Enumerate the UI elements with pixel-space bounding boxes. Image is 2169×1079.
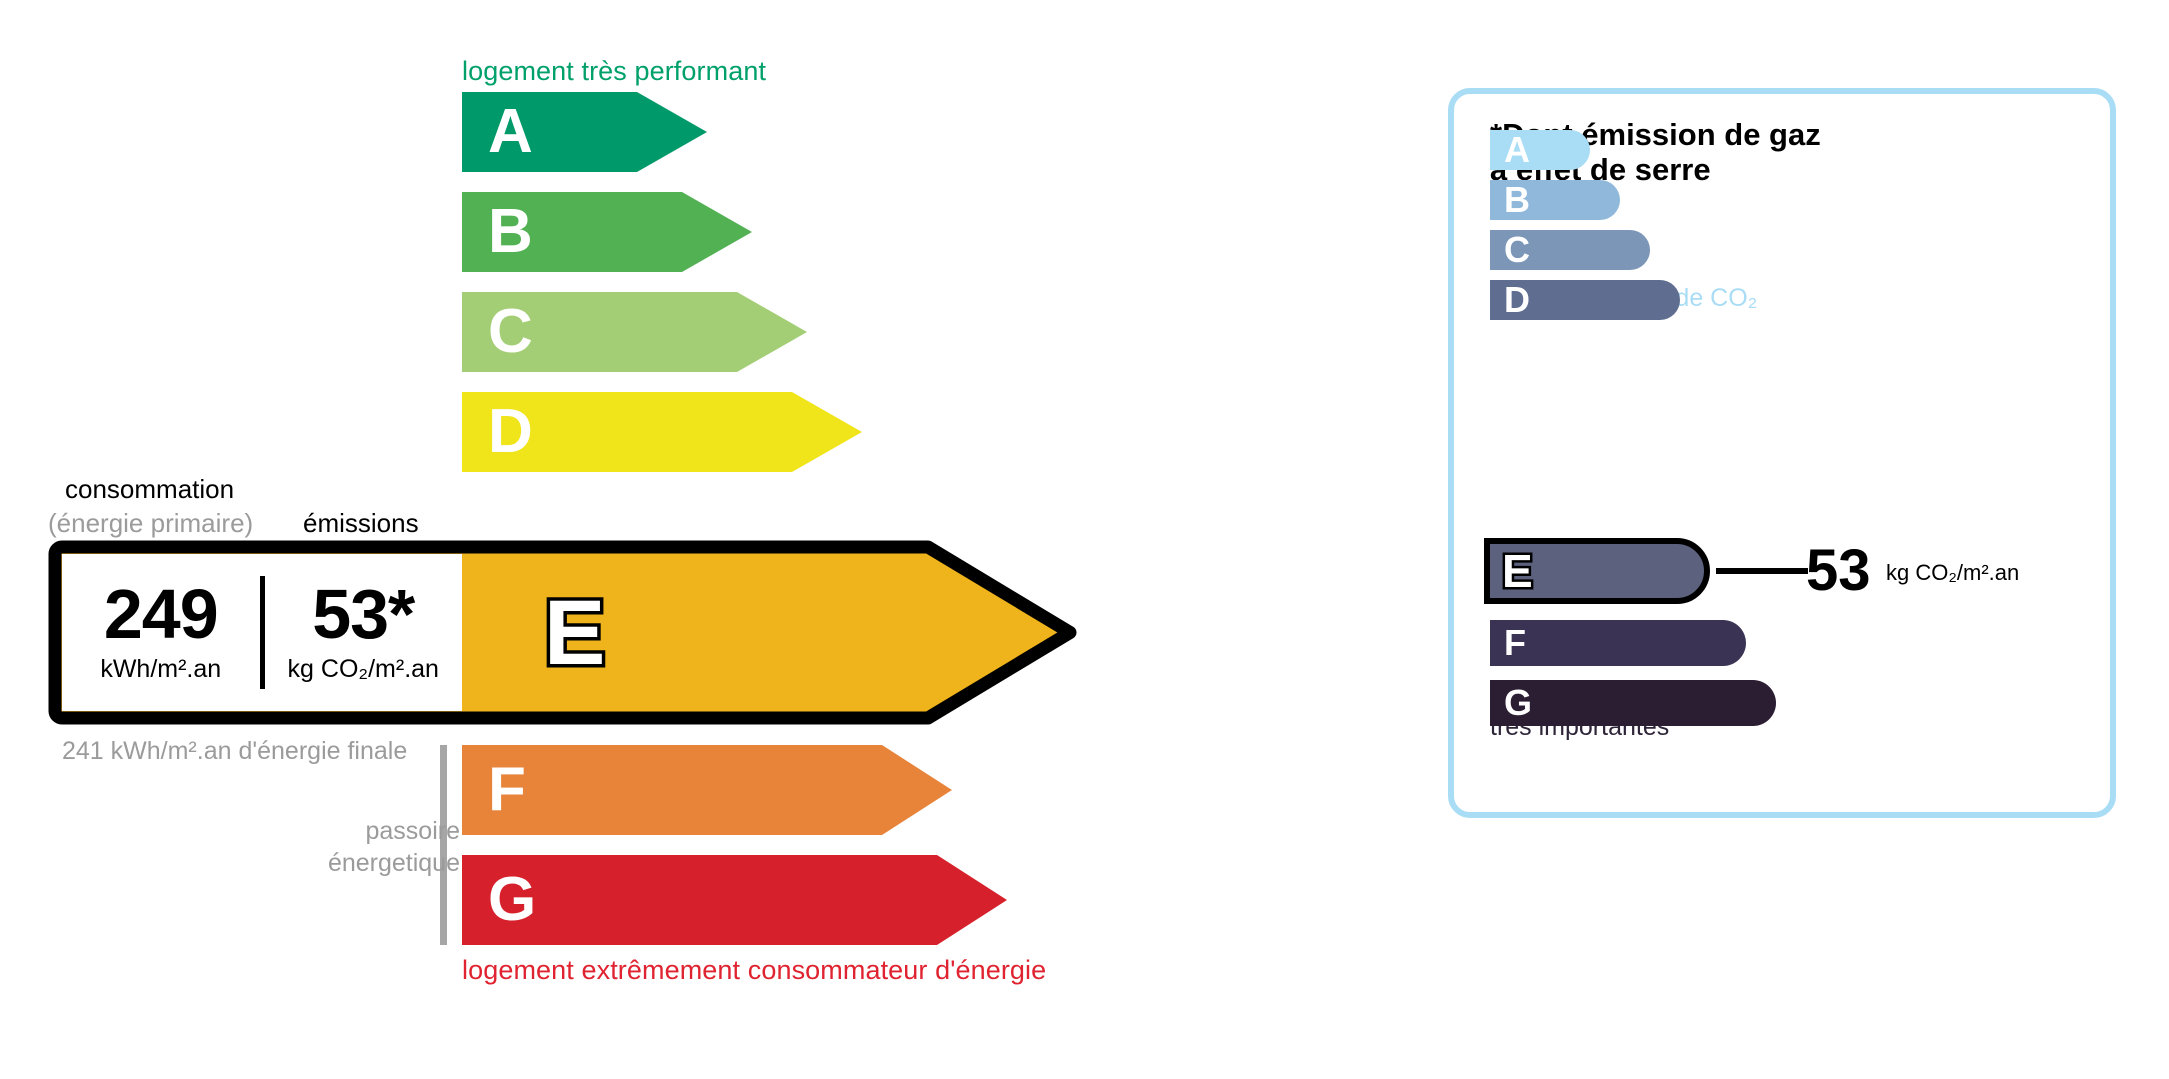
energy-bottom-caption: logement extrêmement consommateur d'éner…: [462, 955, 1046, 986]
co2-unit: kg CO₂/m².an: [1886, 560, 2019, 586]
co2-class-row-C: C: [1490, 230, 1650, 270]
consumption-value-cell: 249 kWh/m².an: [62, 554, 260, 711]
consumption-value: 249: [104, 581, 218, 648]
passoire-note: passoire énergetique: [300, 815, 460, 879]
co2-class-row-B: B: [1490, 180, 1620, 220]
co2-class-letter-D: D: [1504, 282, 1530, 318]
consumption-label: consommation: [65, 474, 234, 505]
co2-emissions-panel: *Dont émission de gaz à effet de serre p…: [1448, 88, 2116, 818]
energy-top-caption: logement très performant: [462, 56, 766, 87]
co2-class-letter-C: C: [1504, 232, 1530, 268]
consumption-unit: kWh/m².an: [100, 655, 221, 684]
emission-value: 53*: [312, 581, 414, 648]
primary-energy-label: (énergie primaire): [48, 508, 253, 539]
co2-class-row-A: A: [1490, 130, 1590, 170]
co2-class-row-G: G: [1490, 680, 1776, 726]
energy-class-letter-F: F: [488, 759, 526, 821]
energy-class-letter-B: B: [488, 201, 533, 263]
co2-class-row-F: F: [1490, 620, 1746, 666]
emission-unit: kg CO₂/m².an: [288, 655, 439, 684]
co2-selected-class-letter: E: [1502, 548, 1533, 594]
energy-arrow-G-icon: [462, 855, 1007, 945]
energy-class-row-F: F: [462, 745, 952, 835]
emissions-label: émissions: [303, 508, 419, 539]
energy-class-row-C: C: [462, 292, 807, 372]
energy-class-letter-G: G: [488, 869, 536, 931]
emission-value-cell: 53* kg CO₂/m².an: [265, 554, 463, 711]
energy-arrow-F-icon: [462, 745, 952, 835]
energy-performance-panel: logement très performant consommation (é…: [0, 0, 1380, 1079]
energy-values-box: 249 kWh/m².an 53* kg CO₂/m².an: [62, 554, 462, 711]
co2-class-letter-F: F: [1504, 625, 1526, 661]
co2-class-letter-B: B: [1504, 182, 1530, 218]
co2-class-row-D: D: [1490, 280, 1680, 320]
energy-class-letter-A: A: [488, 101, 533, 163]
energy-class-row-D: D: [462, 392, 862, 472]
energy-selected-class-letter: E: [544, 587, 605, 679]
energy-class-row-A: A: [462, 92, 707, 172]
co2-class-row-E-selected: E: [1484, 538, 1710, 604]
co2-leader-line: [1716, 568, 1808, 574]
energy-class-row-E-selected: 249 kWh/m².an 53* kg CO₂/m².an E: [48, 540, 1078, 725]
final-energy-note: 241 kWh/m².an d'énergie finale: [62, 735, 407, 767]
co2-value: 53: [1806, 538, 1871, 604]
energy-class-letter-C: C: [488, 301, 533, 363]
energy-class-row-G: G: [462, 855, 1007, 945]
energy-class-row-B: B: [462, 192, 752, 272]
co2-class-letter-G: G: [1504, 685, 1532, 721]
energy-class-letter-D: D: [488, 401, 533, 463]
co2-class-letter-A: A: [1504, 132, 1530, 168]
